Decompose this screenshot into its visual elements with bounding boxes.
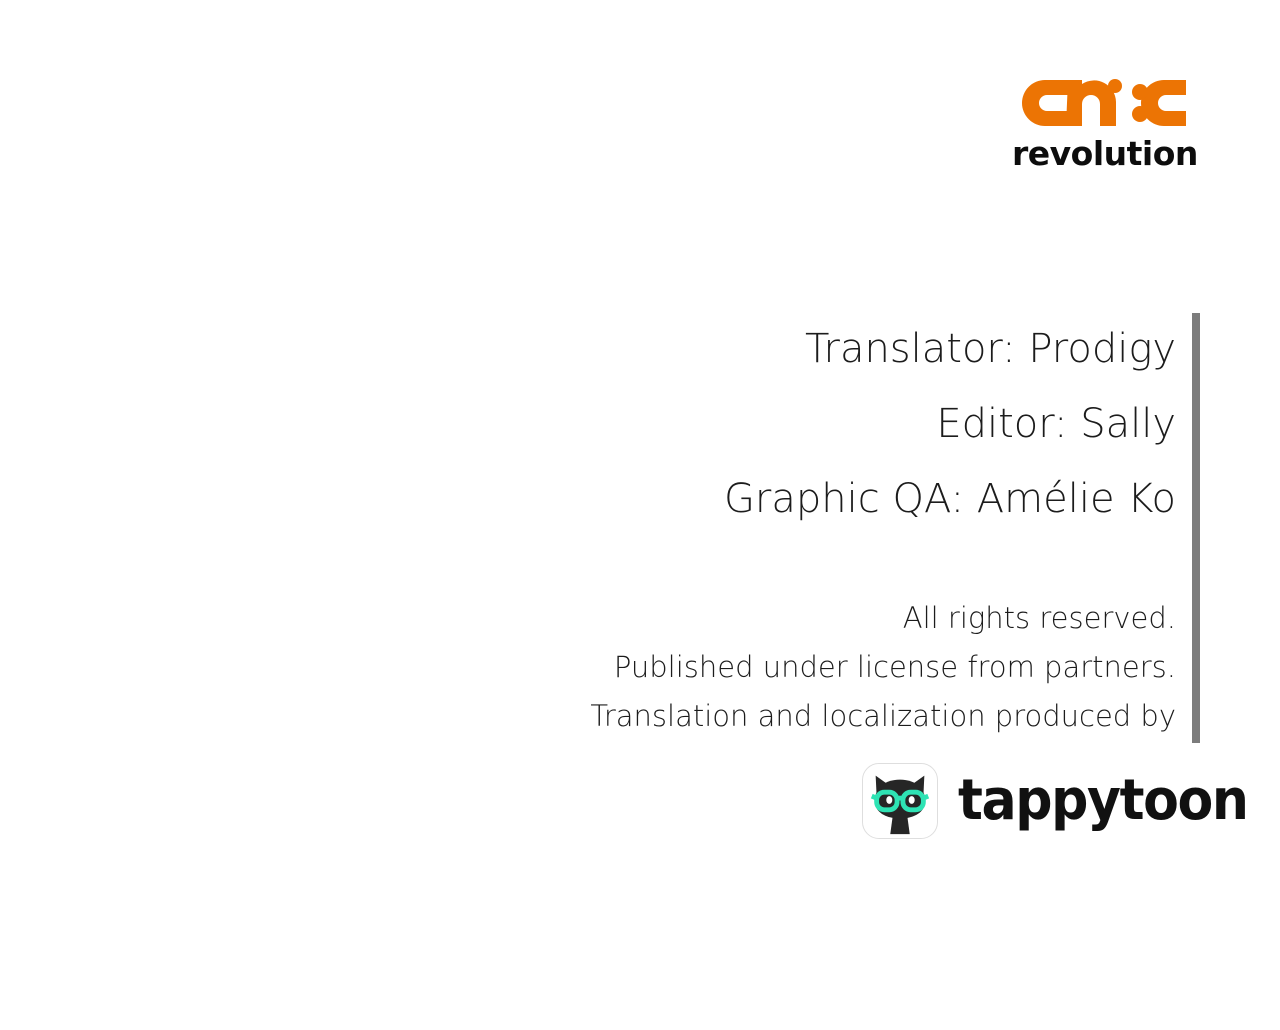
tappytoon-wordmark: tappytoon	[958, 771, 1248, 831]
credits-block: Translator: Prodigy Editor: Sally Graphi…	[536, 312, 1176, 537]
rights-notice-block: All rights reserved. Published under lic…	[476, 594, 1176, 741]
credit-translator: Translator: Prodigy	[536, 312, 1176, 387]
credit-graphic-qa: Graphic QA: Amélie Ko	[536, 462, 1176, 537]
credit-editor: Editor: Sally	[536, 387, 1176, 462]
publisher-logo: revolution	[1012, 72, 1196, 176]
rights-line-reserved: All rights reserved.	[476, 594, 1176, 643]
rights-line-license: Published under license from partners.	[476, 643, 1176, 692]
publisher-wordmark: revolution	[1012, 135, 1196, 173]
credits-vertical-rule	[1192, 313, 1200, 743]
tappytoon-cat-icon	[862, 763, 938, 839]
cnc-logo-mark	[1012, 72, 1196, 134]
rights-line-producer: Translation and localization produced by	[476, 692, 1176, 741]
tappytoon-logo-lockup: tappytoon	[862, 763, 1269, 839]
